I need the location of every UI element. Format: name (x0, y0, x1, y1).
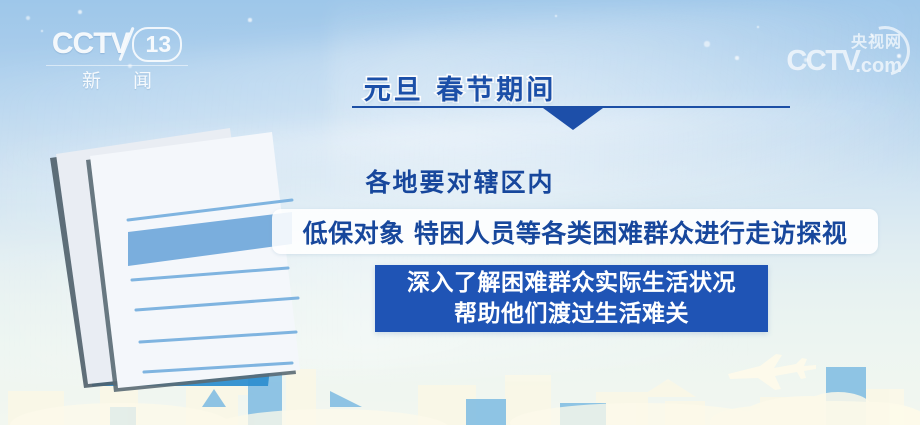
headline-line-1: 各地要对辖区内 (0, 163, 920, 199)
broadcast-frame: CCTV 13 新 闻 CCTV .com 央视网 元旦 春节期间 各地要对辖区… (0, 0, 920, 425)
sparkle-dot (757, 26, 760, 29)
page-title: 元旦 春节期间 (0, 68, 920, 107)
sparkle-dot (78, 10, 82, 14)
channel-number: 13 (146, 31, 172, 58)
callout-line-2: 帮助他们渡过生活难关 (454, 299, 689, 330)
cctv-wordmark: CCTV (52, 27, 130, 61)
highlight-band-text: 低保对象 特困人员等各类困难群众进行走访探视 (303, 214, 848, 250)
highlight-band: 低保对象 特困人员等各类困难群众进行走访探视 (272, 209, 878, 254)
callout-line-1: 深入了解困难群众实际生活状况 (407, 268, 736, 299)
down-arrow-icon (543, 108, 603, 130)
channel-number-badge: 13 (132, 27, 183, 62)
sparkle-dot (41, 30, 44, 33)
cloud-shape (690, 378, 920, 425)
callout-box: 深入了解困难群众实际生活状况 帮助他们渡过生活难关 (375, 265, 768, 332)
sparkle-dot (704, 41, 709, 46)
sparkle-dot (735, 56, 738, 59)
sparkle-dot (26, 16, 31, 21)
sparkle-dot (555, 15, 558, 18)
sparkle-dot (248, 18, 251, 21)
watermark-chinese-name: 央视网 (851, 28, 902, 52)
logo-divider (46, 65, 188, 66)
